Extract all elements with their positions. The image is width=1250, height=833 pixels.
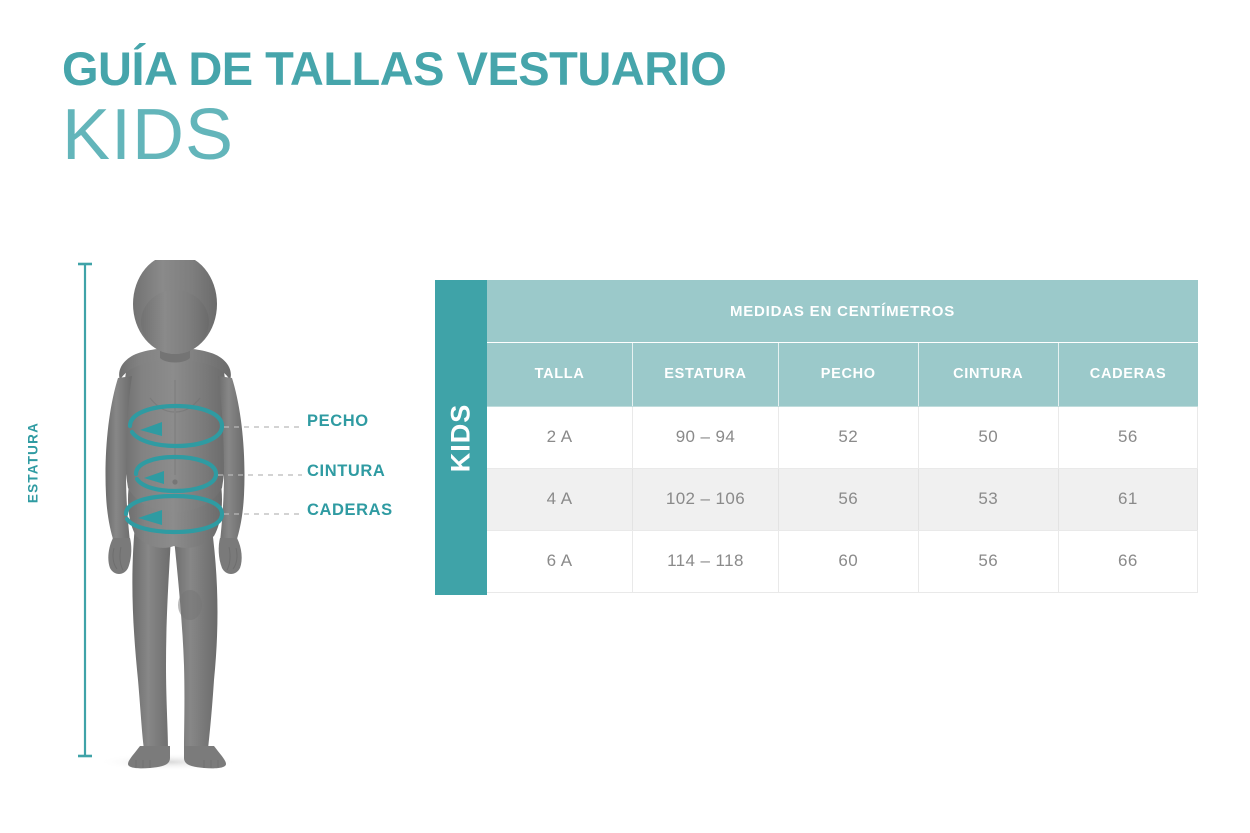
cell-pecho: 56 bbox=[778, 468, 918, 530]
cell-caderas: 56 bbox=[1058, 406, 1197, 468]
table-row: 6 A 114 – 118 60 56 66 bbox=[487, 530, 1198, 592]
table-body-column: MEDIDAS EN CENTÍMETROS TALLA ESTATURA PE… bbox=[487, 280, 1198, 595]
table-row: 2 A 90 – 94 52 50 56 bbox=[487, 406, 1198, 468]
waist-label: CINTURA bbox=[307, 462, 385, 481]
cell-caderas: 61 bbox=[1058, 468, 1197, 530]
hips-label: CADERAS bbox=[307, 501, 393, 520]
table-row: 4 A 102 – 106 56 53 61 bbox=[487, 468, 1198, 530]
page-subtitle: KIDS bbox=[62, 99, 962, 171]
col-header-talla: TALLA bbox=[487, 343, 633, 406]
cell-pecho: 60 bbox=[778, 530, 918, 592]
cell-cintura: 56 bbox=[918, 530, 1058, 592]
measurement-illustration: ESTATURA bbox=[0, 250, 430, 780]
table-header-row: TALLA ESTATURA PECHO CINTURA CADERAS bbox=[487, 343, 1198, 406]
col-header-pecho: PECHO bbox=[778, 343, 918, 406]
cell-talla: 6 A bbox=[487, 530, 633, 592]
cell-talla: 4 A bbox=[487, 468, 633, 530]
cell-cintura: 53 bbox=[918, 468, 1058, 530]
col-header-cintura: CINTURA bbox=[918, 343, 1058, 406]
page-title: GUÍA DE TALLAS VESTUARIO bbox=[62, 44, 962, 93]
category-column: KIDS bbox=[435, 280, 487, 595]
cell-estatura: 102 – 106 bbox=[633, 468, 779, 530]
category-label: KIDS bbox=[446, 403, 477, 472]
size-chart-table: KIDS MEDIDAS EN CENTÍMETROS TALLA ESTATU… bbox=[435, 280, 1198, 595]
page-header: GUÍA DE TALLAS VESTUARIO KIDS bbox=[62, 44, 962, 171]
cell-talla: 2 A bbox=[487, 406, 633, 468]
col-header-estatura: ESTATURA bbox=[633, 343, 779, 406]
cell-estatura: 114 – 118 bbox=[633, 530, 779, 592]
measurements-table: TALLA ESTATURA PECHO CINTURA CADERAS 2 A… bbox=[487, 343, 1198, 593]
cell-estatura: 90 – 94 bbox=[633, 406, 779, 468]
chest-label: PECHO bbox=[307, 412, 369, 431]
col-header-caderas: CADERAS bbox=[1058, 343, 1197, 406]
height-axis-label: ESTATURA bbox=[26, 408, 41, 518]
units-header: MEDIDAS EN CENTÍMETROS bbox=[487, 280, 1198, 343]
cell-pecho: 52 bbox=[778, 406, 918, 468]
cell-cintura: 50 bbox=[918, 406, 1058, 468]
cell-caderas: 66 bbox=[1058, 530, 1197, 592]
